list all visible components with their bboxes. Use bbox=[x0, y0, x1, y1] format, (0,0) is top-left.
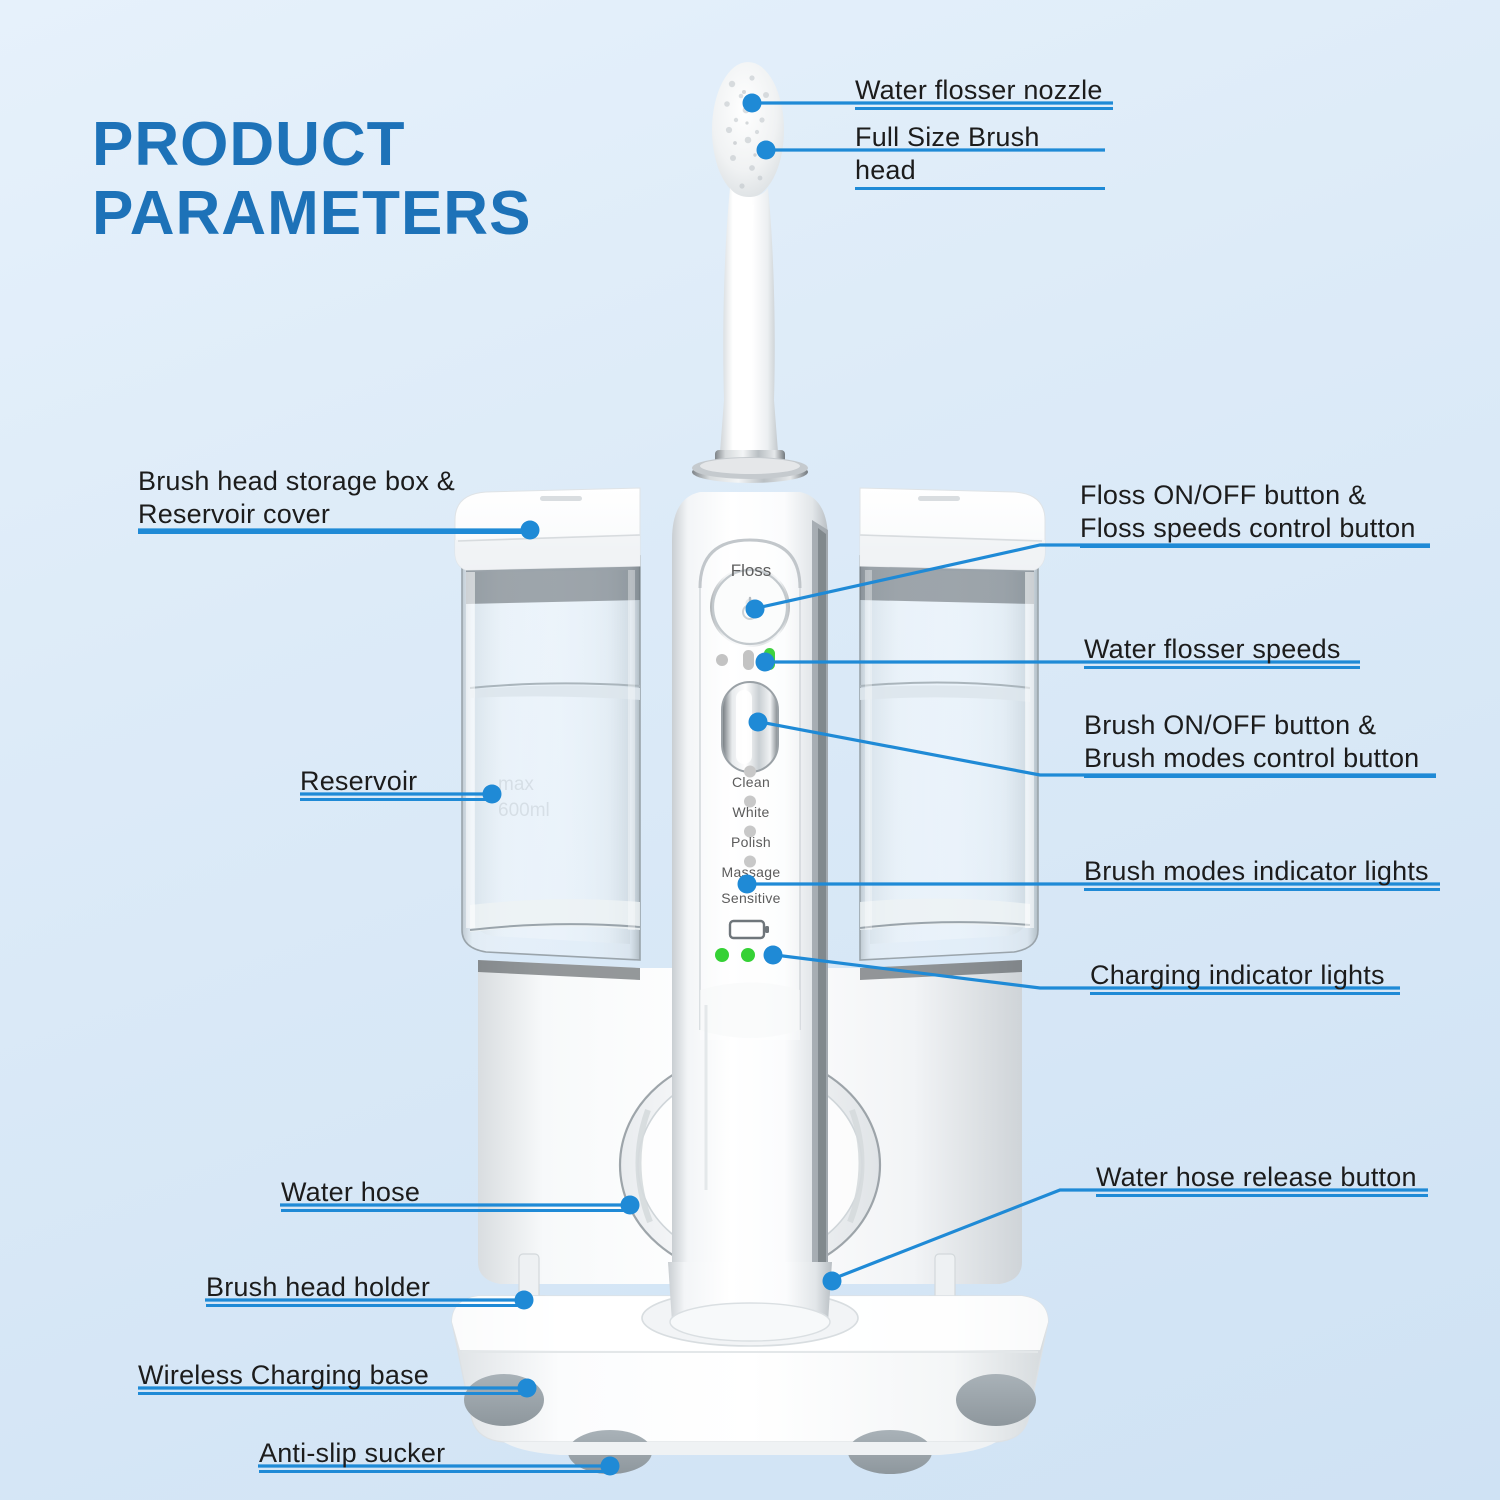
callout-brush-modes-lights: Brush modes indicator lights bbox=[1084, 855, 1440, 891]
callout-hose-release-text: Water hose release button bbox=[1096, 1161, 1428, 1194]
full-size-brush-head-art bbox=[692, 62, 808, 483]
callout-flosser-speeds: Water flosser speeds bbox=[1084, 633, 1360, 669]
flosser-speed-1 bbox=[716, 654, 728, 666]
brush-mode-label-polish: Polish bbox=[696, 834, 806, 850]
callout-brush-head-holder: Brush head holder bbox=[206, 1271, 526, 1307]
callout-reservoir: Reservoir bbox=[300, 765, 496, 801]
callout-full-size-brush-head-text: Full Size Brush head bbox=[855, 121, 1105, 187]
callout-full-size-brush-head: Full Size Brush head bbox=[855, 121, 1105, 190]
callout-water-flosser-nozzle-text: Water flosser nozzle bbox=[855, 74, 1113, 107]
callout-brush-head-holder-text: Brush head holder bbox=[206, 1271, 526, 1304]
callout-hose-release: Water hose release button bbox=[1096, 1161, 1428, 1197]
anti-slip-sucker-right bbox=[956, 1374, 1036, 1426]
callout-underline bbox=[1096, 1194, 1428, 1197]
handle-art bbox=[672, 492, 828, 1280]
callout-underline bbox=[300, 798, 496, 801]
brush-mode-label-massage: Massage bbox=[696, 864, 806, 880]
charging-light-3 bbox=[767, 948, 781, 962]
brush-mode-label-clean: Clean bbox=[696, 774, 806, 790]
callout-floss-button-text: Floss ON/OFF button & Floss speeds contr… bbox=[1080, 479, 1430, 545]
flosser-speed-2 bbox=[743, 650, 754, 670]
callout-underline bbox=[855, 107, 1113, 110]
callout-charging-base: Wireless Charging base bbox=[138, 1359, 528, 1395]
callout-reservoir-text: Reservoir bbox=[300, 765, 496, 798]
callout-storage-box: Brush head storage box & Reservoir cover bbox=[138, 465, 530, 534]
callout-water-flosser-nozzle: Water flosser nozzle bbox=[855, 74, 1113, 110]
callout-underline bbox=[1084, 775, 1436, 778]
flosser-speed-3 bbox=[764, 648, 775, 670]
callout-flosser-speeds-text: Water flosser speeds bbox=[1084, 633, 1360, 666]
charging-light-1 bbox=[715, 948, 729, 962]
callout-water-hose-text: Water hose bbox=[281, 1176, 631, 1209]
callout-underline bbox=[138, 531, 530, 534]
callout-storage-box-text: Brush head storage box & Reservoir cover bbox=[138, 465, 530, 531]
page-title: PRODUCT PARAMETERS bbox=[92, 110, 531, 249]
callout-charging-lights-text: Charging indicator lights bbox=[1090, 959, 1400, 992]
callout-water-hose: Water hose bbox=[281, 1176, 631, 1212]
callout-underline bbox=[259, 1470, 611, 1473]
callout-brush-modes-lights-text: Brush modes indicator lights bbox=[1084, 855, 1440, 888]
callout-charging-lights: Charging indicator lights bbox=[1090, 959, 1400, 995]
svg-text:600ml: 600ml bbox=[498, 800, 550, 821]
callout-charging-base-text: Wireless Charging base bbox=[138, 1359, 528, 1392]
brush-mode-label-white: White bbox=[696, 804, 806, 820]
callout-brush-button-text: Brush ON/OFF button & Brush modes contro… bbox=[1084, 709, 1436, 775]
product-parameters-infographic: max 600ml bbox=[0, 0, 1500, 1500]
callout-underline bbox=[206, 1304, 526, 1307]
callout-underline bbox=[138, 1392, 528, 1395]
callout-underline bbox=[281, 1209, 631, 1212]
callout-underline bbox=[855, 187, 1105, 190]
callout-brush-button: Brush ON/OFF button & Brush modes contro… bbox=[1084, 709, 1436, 778]
callout-underline bbox=[1090, 992, 1400, 995]
callout-underline bbox=[1084, 888, 1440, 891]
charging-light-2 bbox=[741, 948, 755, 962]
callout-underline bbox=[1080, 545, 1430, 548]
callout-floss-button: Floss ON/OFF button & Floss speeds contr… bbox=[1080, 479, 1430, 548]
callout-underline bbox=[1084, 666, 1360, 669]
callout-anti-slip-sucker-text: Anti-slip sucker bbox=[259, 1437, 611, 1470]
floss-button-label: Floss bbox=[696, 561, 806, 581]
callout-anti-slip-sucker: Anti-slip sucker bbox=[259, 1437, 611, 1473]
svg-text:max: max bbox=[498, 774, 534, 795]
brush-mode-label-sensitive: Sensitive bbox=[696, 890, 806, 906]
